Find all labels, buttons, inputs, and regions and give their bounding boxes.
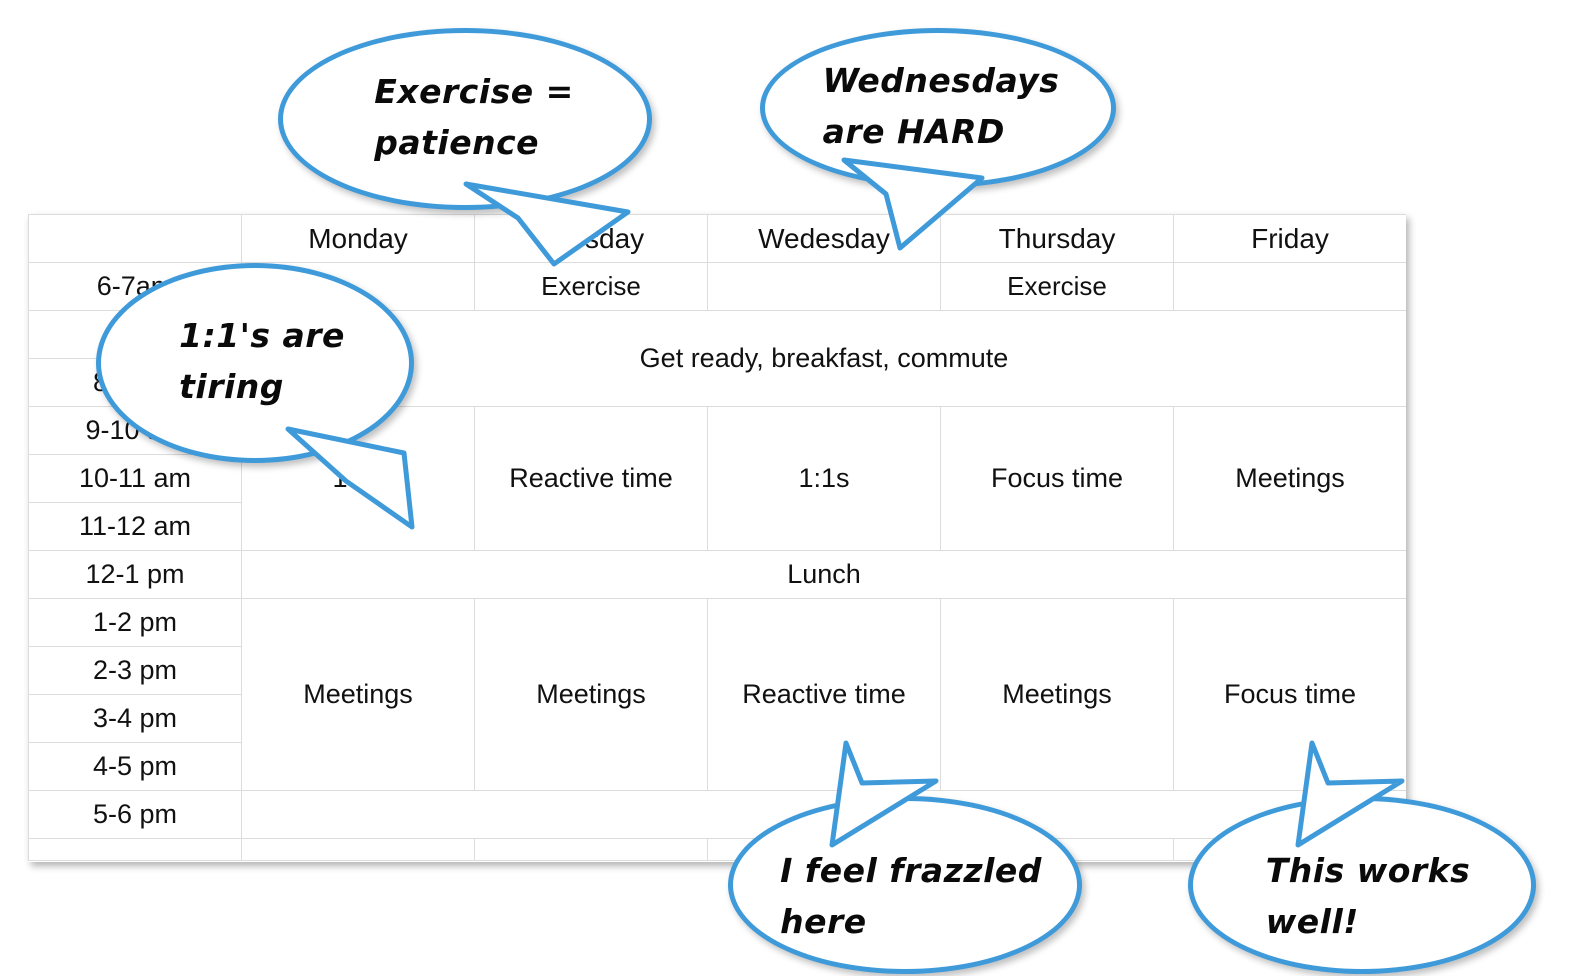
time-label-12-1pm: 12-1 pm	[29, 551, 242, 599]
cell-thursday-afternoon-block: Meetings	[941, 599, 1174, 791]
cell-partial-monday	[242, 839, 475, 861]
annotation-bubble-wednesdays-hard: Wednesdays are HARD	[760, 28, 1116, 188]
time-label-3-4pm: 3-4 pm	[29, 695, 242, 743]
column-header-tuesday: Tuesday	[475, 215, 708, 263]
cell-wednesday-6-7am	[708, 263, 941, 311]
corner-cell	[29, 215, 242, 263]
annotation-bubble-works-well: This works well!	[1188, 796, 1536, 974]
table-row: 12-1 pm Lunch	[29, 551, 1407, 599]
annotation-bubble-feel-frazzled: I feel frazzled here	[728, 796, 1082, 974]
cell-morning-routine: Get ready, breakfast, commute	[242, 311, 1407, 407]
cell-wednesday-morning-block: 1:1s	[708, 407, 941, 551]
column-header-friday: Friday	[1174, 215, 1407, 263]
column-header-wednesday: Wedesday	[708, 215, 941, 263]
bubble-text: This works well!	[1254, 819, 1470, 951]
annotation-bubble-ones-tiring: 1:1's are tiring	[96, 263, 414, 463]
cell-thursday-morning-block: Focus time	[941, 407, 1174, 551]
time-label-5-6pm: 5-6 pm	[29, 791, 242, 839]
table-row: 1-2 pm Meetings Meetings Reactive time M…	[29, 599, 1407, 647]
cell-friday-morning-block: Meetings	[1174, 407, 1407, 551]
cell-tuesday-afternoon-block: Meetings	[475, 599, 708, 791]
cell-tuesday-6-7am: Exercise	[475, 263, 708, 311]
cell-partial-tuesday	[475, 839, 708, 861]
time-label-11-12am: 11-12 am	[29, 503, 242, 551]
cell-friday-6-7am	[1174, 263, 1407, 311]
bubble-text: I feel frazzled here	[768, 819, 1042, 951]
cell-monday-afternoon-block: Meetings	[242, 599, 475, 791]
cell-lunch: Lunch	[242, 551, 1407, 599]
time-label-2-3pm: 2-3 pm	[29, 647, 242, 695]
cell-friday-afternoon-block: Focus time	[1174, 599, 1407, 791]
bubble-text: Wednesdays are HARD	[817, 55, 1060, 161]
column-header-monday: Monday	[242, 215, 475, 263]
bubble-text: Exercise = patience	[356, 66, 574, 172]
column-header-thursday: Thursday	[941, 215, 1174, 263]
annotation-bubble-exercise-patience: Exercise = patience	[278, 28, 652, 210]
table-header-row: Monday Tuesday Wedesday Thursday Friday	[29, 215, 1407, 263]
cell-thursday-6-7am: Exercise	[941, 263, 1174, 311]
time-label-1-2pm: 1-2 pm	[29, 599, 242, 647]
time-label-partial	[29, 839, 242, 861]
cell-tuesday-morning-block: Reactive time	[475, 407, 708, 551]
time-label-4-5pm: 4-5 pm	[29, 743, 242, 791]
bubble-text: 1:1's are tiring	[165, 310, 345, 416]
cell-wednesday-afternoon-block: Reactive time	[708, 599, 941, 791]
